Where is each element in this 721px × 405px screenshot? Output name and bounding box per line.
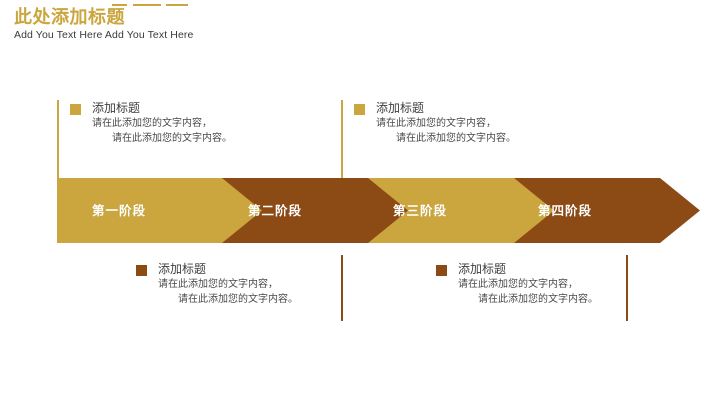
callout-bottom-2-line1: 请在此添加您的文字内容， — [458, 277, 598, 292]
callout-top-1-head: 添加标题 — [70, 101, 232, 116]
callout-bottom-1-head: 添加标题 — [136, 262, 298, 277]
page-title: 此处添加标题 — [14, 7, 125, 27]
stage-label-2: 第二阶段 — [248, 204, 302, 218]
connector-callout-bottom-2 — [626, 255, 628, 321]
title-accent-rule-2 — [133, 4, 161, 6]
bullet-square-icon — [136, 265, 147, 276]
title-accent-rule-1 — [112, 4, 127, 6]
callout-bottom-2-head: 添加标题 — [436, 262, 598, 277]
callout-top-2: 添加标题 请在此添加您的文字内容， 请在此添加您的文字内容。 — [354, 101, 516, 146]
callout-bottom-1-title: 添加标题 — [158, 262, 206, 277]
connector-callout-bottom-1 — [341, 255, 343, 321]
callout-top-2-head: 添加标题 — [354, 101, 516, 116]
page-subtitle: Add You Text Here Add You Text Here — [14, 29, 193, 41]
callout-top-1-line1: 请在此添加您的文字内容， — [92, 116, 232, 131]
callout-top-2-line1: 请在此添加您的文字内容， — [376, 116, 516, 131]
stage-label-1: 第一阶段 — [92, 204, 146, 218]
callout-bottom-2-title: 添加标题 — [458, 262, 506, 277]
callout-bottom-1-line2: 请在此添加您的文字内容。 — [178, 292, 298, 307]
bullet-square-icon — [436, 265, 447, 276]
callout-bottom-2-line2: 请在此添加您的文字内容。 — [478, 292, 598, 307]
callout-top-1-title: 添加标题 — [92, 101, 140, 116]
bullet-square-icon — [70, 104, 81, 115]
bullet-square-icon — [354, 104, 365, 115]
callout-top-2-line2: 请在此添加您的文字内容。 — [396, 131, 516, 146]
stage-shape-1 — [57, 178, 262, 243]
callout-top-1: 添加标题 请在此添加您的文字内容， 请在此添加您的文字内容。 — [70, 101, 232, 146]
callout-top-2-title: 添加标题 — [376, 101, 424, 116]
stage-label-3: 第三阶段 — [393, 204, 447, 218]
stage-label-4: 第四阶段 — [538, 204, 592, 218]
callout-top-1-line2: 请在此添加您的文字内容。 — [112, 131, 232, 146]
title-accent-rule-3 — [166, 4, 188, 6]
slide-canvas: 此处添加标题 Add You Text Here Add You Text He… — [0, 0, 721, 405]
callout-bottom-1-line1: 请在此添加您的文字内容， — [158, 277, 298, 292]
callout-bottom-2: 添加标题 请在此添加您的文字内容， 请在此添加您的文字内容。 — [436, 262, 598, 307]
callout-bottom-1: 添加标题 请在此添加您的文字内容， 请在此添加您的文字内容。 — [136, 262, 298, 307]
connector-callout-top-1 — [57, 100, 59, 162]
